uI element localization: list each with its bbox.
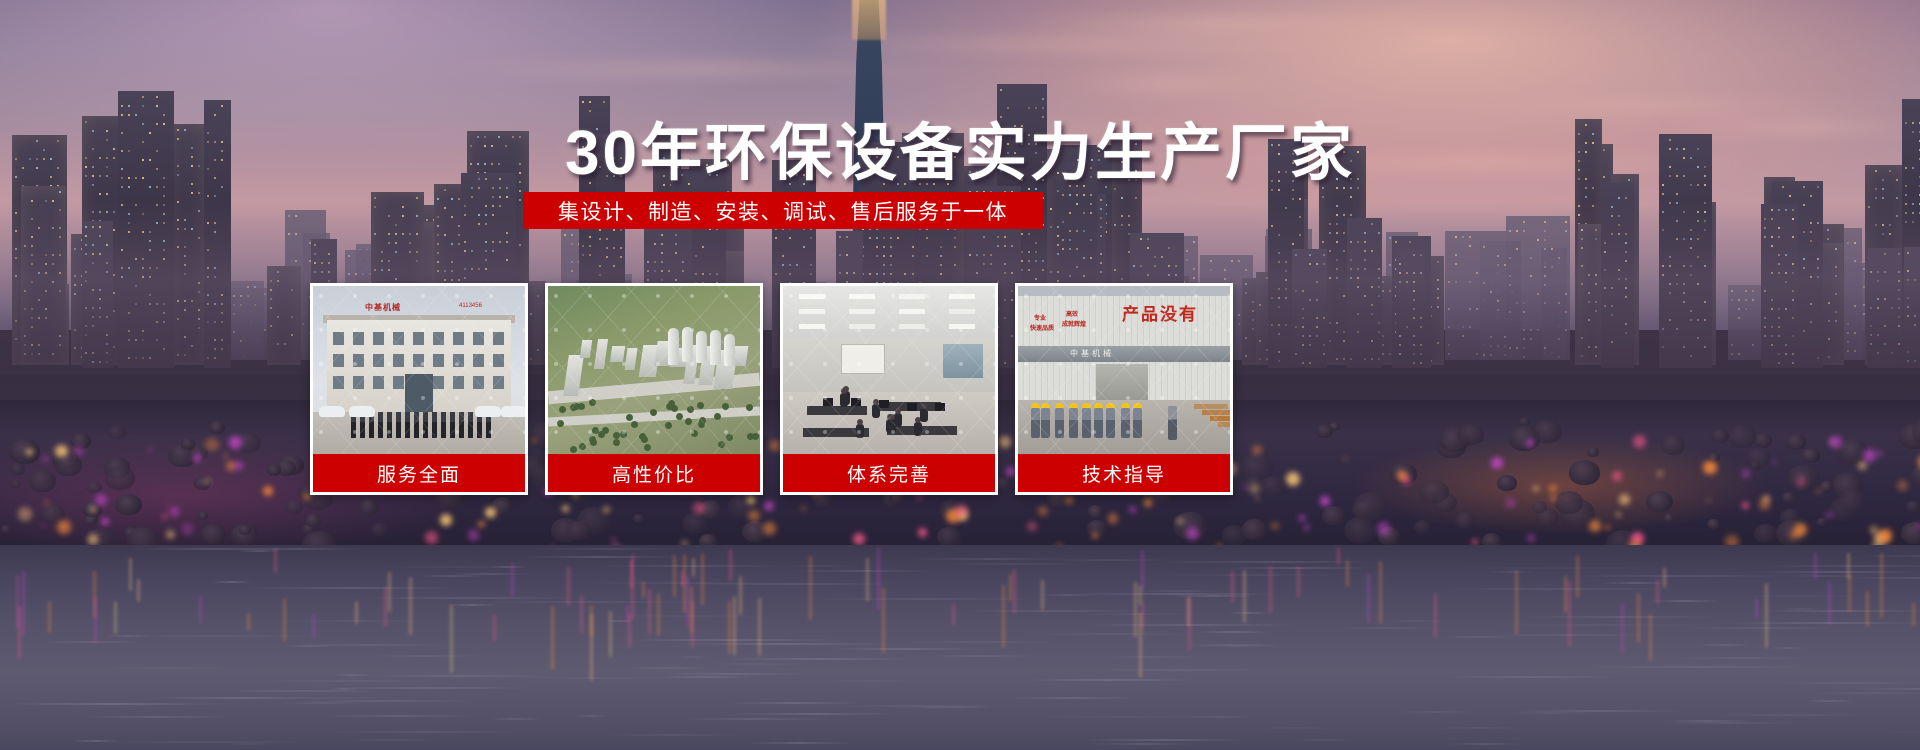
tower-crown-glow [852, 0, 886, 40]
river-water [0, 545, 1920, 750]
card-caption-bar: 技术指导 [1018, 454, 1230, 492]
feature-card-list: 中基机械 4113456 服务全面 高性价比 [310, 283, 1256, 495]
card-caption-bar: 服务全面 [313, 454, 525, 492]
feature-card[interactable]: 产品没有 专业 快速品质 高效 成就辉煌 中基机械 技术指导 [1015, 283, 1233, 495]
card-caption-bar: 体系完善 [783, 454, 995, 492]
subtitle-text: 集设计、制造、安装、调试、售后服务于一体 [558, 196, 1008, 226]
feature-card[interactable]: 高性价比 [545, 283, 763, 495]
office-interior-workers-photo [783, 286, 995, 454]
card-caption-bar: 高性价比 [548, 454, 760, 492]
factory-exterior-workers-photo: 产品没有 专业 快速品质 高效 成就辉煌 中基机械 [1018, 286, 1230, 454]
hero-banner: 30年环保设备实力生产厂家 集设计、制造、安装、调试、售后服务于一体 中基机械 … [0, 0, 1920, 750]
building-phone-text: 4113456 [459, 303, 482, 309]
card-caption-text: 体系完善 [847, 460, 931, 487]
factory-slogan-3: 高效 [1066, 312, 1078, 320]
card-caption-text: 高性价比 [612, 460, 696, 487]
office-building-and-staff-photo: 中基机械 4113456 [313, 286, 525, 454]
feature-card[interactable]: 中基机械 4113456 服务全面 [310, 283, 528, 495]
factory-slogan-2: 快速品质 [1030, 326, 1054, 334]
factory-band-text: 中基机械 [1070, 348, 1114, 359]
card-caption-text: 服务全面 [377, 460, 461, 487]
factory-slogan-4: 成就辉煌 [1062, 322, 1086, 330]
factory-wall-slogan: 产品没有 [1122, 300, 1198, 325]
page-title: 30年环保设备实力生产厂家 [0, 102, 1920, 192]
subtitle-bar: 集设计、制造、安装、调试、售后服务于一体 [523, 192, 1043, 229]
factory-slogan-1: 专业 [1034, 316, 1046, 324]
building-sign-text: 中基机械 [365, 302, 401, 313]
feature-card[interactable]: 体系完善 [780, 283, 998, 495]
card-caption-text: 技术指导 [1082, 460, 1166, 487]
aerial-industrial-plant-photo [548, 286, 760, 454]
